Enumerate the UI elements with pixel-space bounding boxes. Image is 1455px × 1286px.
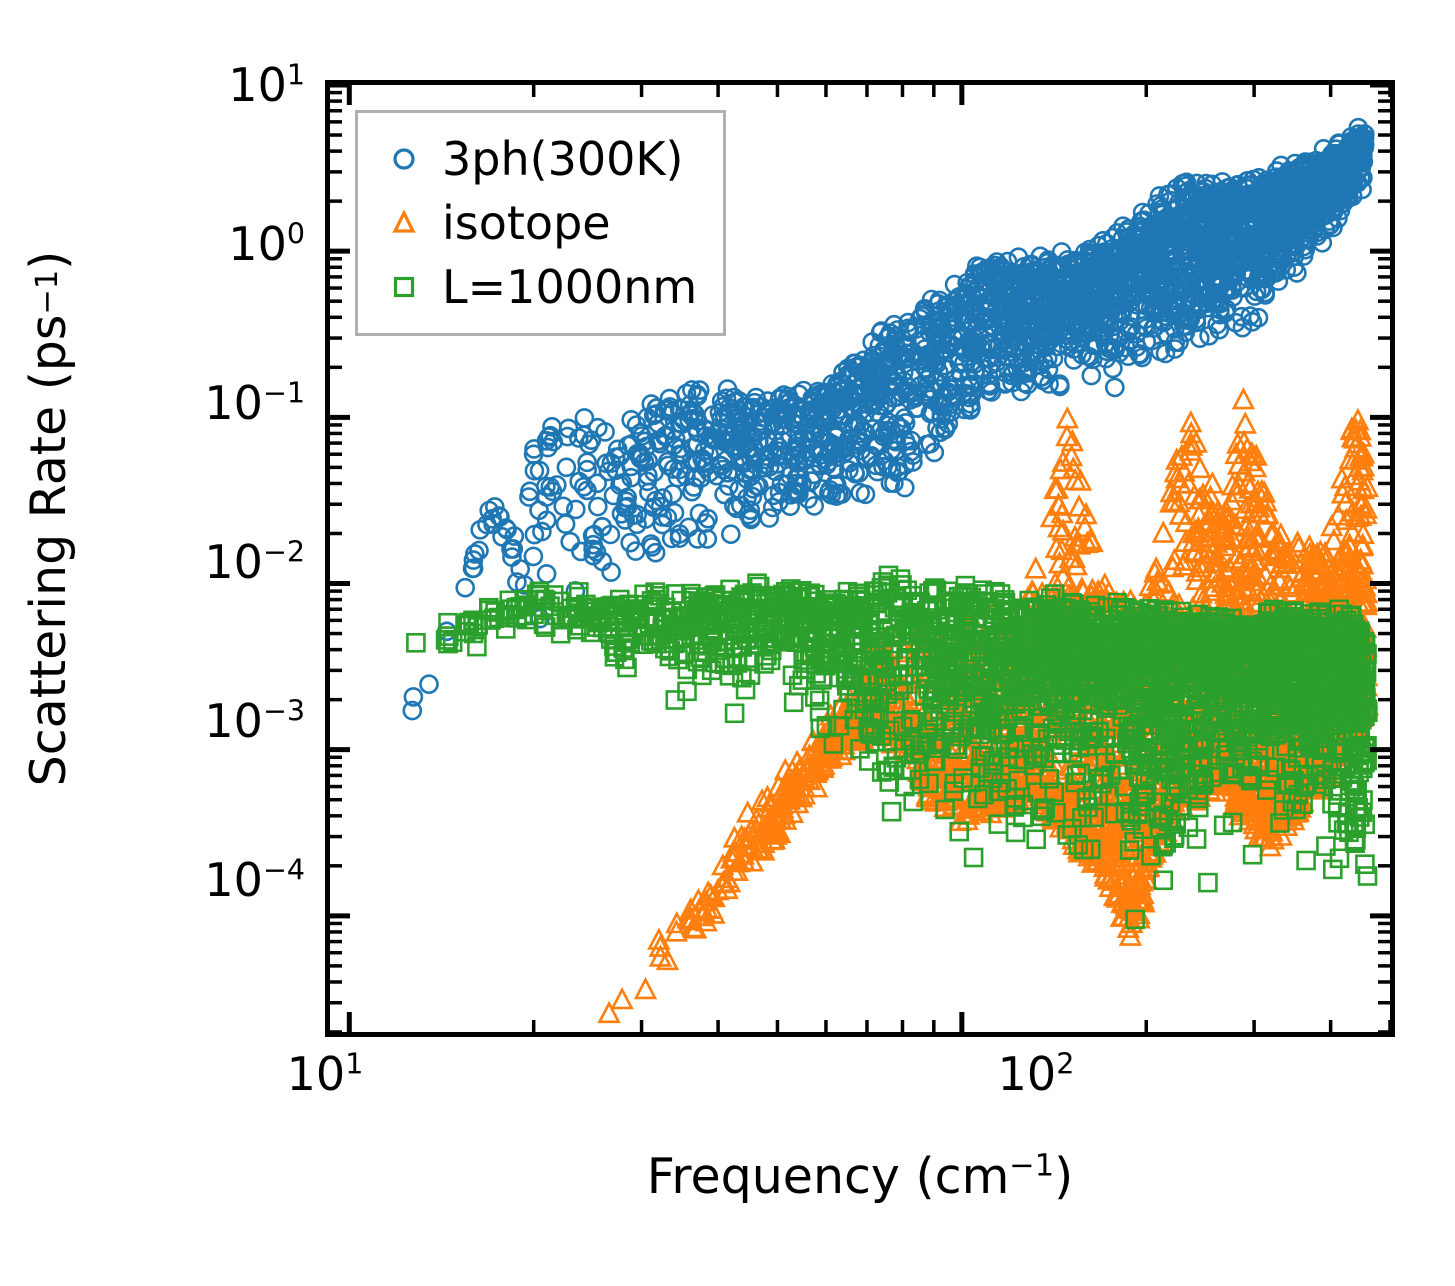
legend-marker-square-icon (376, 270, 432, 304)
scatter-plot-figure: Scattering Rate (ps−1) Frequency (cm−1) … (0, 0, 1455, 1286)
y-tick-label-1em4: 10−4 (145, 853, 305, 907)
y-tick-label-1em1: 10−1 (145, 376, 305, 430)
y-axis-label-close: ) (20, 251, 77, 270)
x-axis-label-close: ) (1054, 1148, 1073, 1205)
x-axis-label: Frequency (cm−1) (325, 1148, 1395, 1205)
y-tick-label-1em3: 10−3 (145, 694, 305, 748)
legend-label-3ph: 3ph(300K) (432, 132, 683, 186)
legend-label-isotope: isotope (432, 196, 611, 250)
x-axis-label-text: Frequency (cm (647, 1148, 1010, 1205)
legend-entry-3ph: 3ph(300K) (376, 127, 697, 191)
legend-entry-length: L=1000nm (376, 255, 697, 319)
legend: 3ph(300K) isotope L=1000nm (355, 110, 726, 336)
x-tick-label-1e2: 102 (936, 1047, 1136, 1101)
x-axis-label-exponent: −1 (1009, 1149, 1054, 1184)
y-axis-label-text: Scattering Rate (ps (20, 315, 77, 787)
legend-label-length: L=1000nm (432, 260, 697, 314)
plot-axes: 3ph(300K) isotope L=1000nm (325, 80, 1395, 1037)
y-axis-label: Scattering Rate (ps−1) (0, 0, 96, 1037)
x-tick-label-1e1: 101 (225, 1047, 425, 1101)
y-tick-label-1e1: 101 (145, 58, 305, 112)
y-tick-label-1em2: 10−2 (145, 535, 305, 589)
y-tick-label-1e0: 100 (145, 217, 305, 271)
legend-marker-triangle-icon (376, 206, 432, 240)
legend-entry-isotope: isotope (376, 191, 697, 255)
legend-marker-circle-icon (376, 142, 432, 176)
